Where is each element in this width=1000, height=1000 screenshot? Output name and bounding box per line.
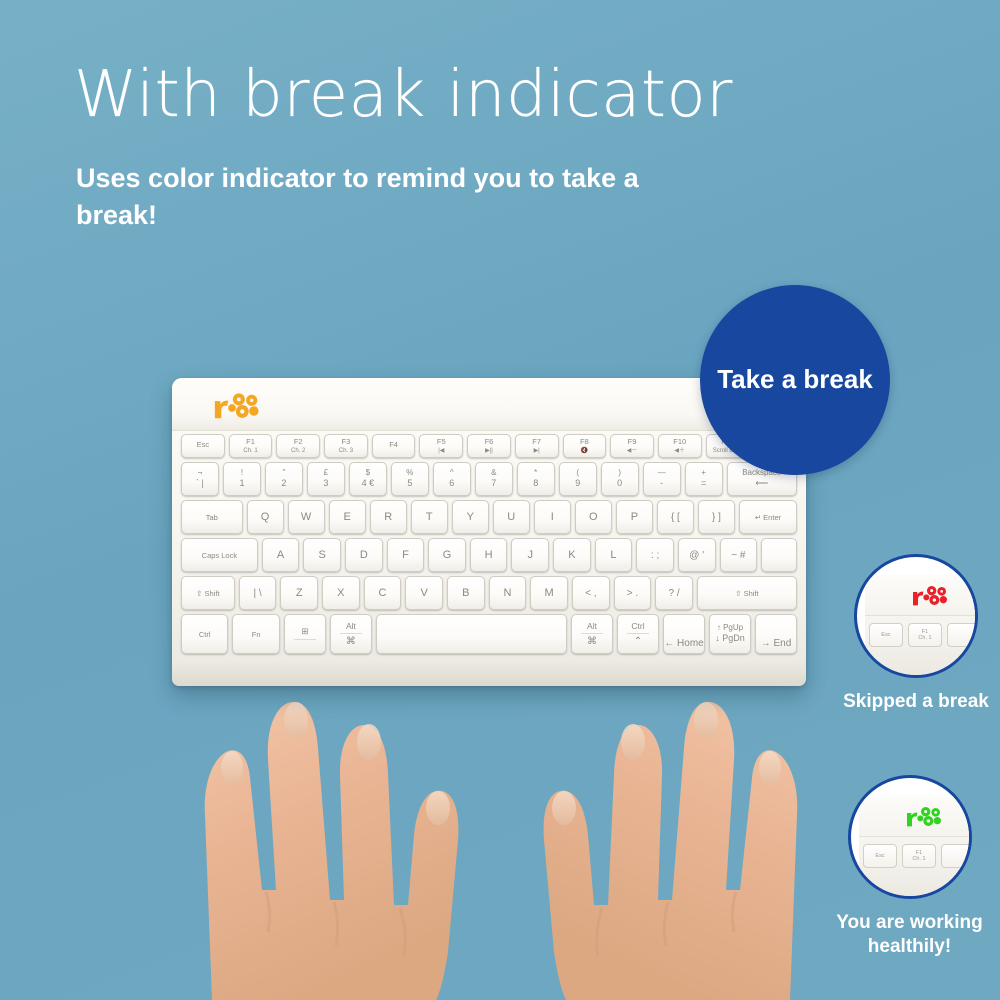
nail bbox=[426, 791, 450, 825]
key-v[interactable]: V bbox=[405, 576, 443, 610]
key-h[interactable]: H bbox=[470, 538, 508, 572]
nail bbox=[759, 751, 781, 785]
nail bbox=[621, 724, 645, 760]
key-p[interactable]: P bbox=[616, 500, 653, 534]
key-m[interactable]: M bbox=[530, 576, 568, 610]
key-j[interactable]: J bbox=[511, 538, 549, 572]
key-alt-right[interactable]: Alt⌘ bbox=[571, 614, 613, 654]
key-f5[interactable]: F5|◀ bbox=[419, 434, 463, 458]
mini-key-f2[interactable] bbox=[941, 844, 972, 868]
keyboard-row-bottom: Ctrl Fn ⊞ Alt⌘ Alt⌘ Ctrl⌃ ← Home ↑ PgUp↓… bbox=[181, 614, 797, 654]
key-n[interactable]: N bbox=[489, 576, 527, 610]
mini-key-f1[interactable]: F1Ch. 1 bbox=[908, 623, 942, 647]
key-c[interactable]: C bbox=[364, 576, 402, 610]
keyboard-row-qwerty: Tab Q W E R T Y U I O P { [ } ] ↵ Enter bbox=[181, 500, 797, 534]
key-5[interactable]: %5 bbox=[391, 462, 429, 496]
key-alt-left[interactable]: Alt⌘ bbox=[330, 614, 372, 654]
key-f6[interactable]: F6▶|| bbox=[467, 434, 511, 458]
key-f4[interactable]: F4 bbox=[372, 434, 416, 458]
keyboard-row-numbers: ¬` | !1 "2 £3 $4 € %5 ^6 &7 *8 (9 )0 —- … bbox=[181, 462, 797, 496]
rgo-logo-icon bbox=[905, 804, 945, 828]
mini-key-f2[interactable] bbox=[947, 623, 978, 647]
keyboard-row-function: Esc F1Ch. 1 F2Ch. 2 F3Ch. 3 F4 F5|◀ F6▶|… bbox=[181, 434, 797, 458]
mini-keyboard: Esc F1Ch. 1 bbox=[859, 796, 972, 899]
key-e[interactable]: E bbox=[329, 500, 366, 534]
key-t[interactable]: T bbox=[411, 500, 448, 534]
nail bbox=[221, 751, 243, 785]
nail bbox=[552, 791, 576, 825]
key-arrow-right-end[interactable]: → End bbox=[755, 614, 797, 654]
promo-image: With break indicator Uses color indicato… bbox=[0, 0, 1000, 1000]
key-shift-left[interactable]: ⇧ Shift bbox=[181, 576, 235, 610]
indicator-caption-healthily: You are working healthily! bbox=[827, 911, 992, 959]
keyboard-keys: Esc F1Ch. 1 F2Ch. 2 F3Ch. 3 F4 F5|◀ F6▶|… bbox=[181, 434, 797, 668]
key-f8[interactable]: F8🔇 bbox=[563, 434, 607, 458]
key-semicolon[interactable]: : ; bbox=[636, 538, 674, 572]
rgo-logo-icon bbox=[212, 390, 264, 420]
mini-keyboard-keys: Esc F1Ch. 1 bbox=[863, 844, 972, 868]
key-f1[interactable]: F1Ch. 1 bbox=[229, 434, 273, 458]
key-minus[interactable]: —- bbox=[643, 462, 681, 496]
key-w[interactable]: W bbox=[288, 500, 325, 534]
indicator-caption-skipped: Skipped a break bbox=[841, 690, 991, 714]
key-f9[interactable]: F9◀－ bbox=[610, 434, 654, 458]
keyboard-row-shift: ⇧ Shift | \ Z X C V B N M < , > . ? / ⇧ … bbox=[181, 576, 797, 610]
indicator-circle-red: Esc F1Ch. 1 bbox=[854, 554, 978, 678]
key-a[interactable]: A bbox=[262, 538, 300, 572]
key-7[interactable]: &7 bbox=[475, 462, 513, 496]
key-arrow-up-down[interactable]: ↑ PgUp↓ PgDn bbox=[709, 614, 751, 654]
key-windows[interactable]: ⊞ bbox=[284, 614, 326, 654]
nail bbox=[694, 702, 718, 738]
key-f7[interactable]: F7▶| bbox=[515, 434, 559, 458]
right-hand bbox=[544, 702, 798, 1000]
key-f2[interactable]: F2Ch. 2 bbox=[276, 434, 320, 458]
indicator-skipped-break: Esc F1Ch. 1 Skipped a break bbox=[841, 554, 991, 714]
indicator-working-healthily: Esc F1Ch. 1 You are working healthily! bbox=[835, 775, 985, 959]
key-tab[interactable]: Tab bbox=[181, 500, 243, 534]
mini-keyboard-top-bar bbox=[859, 796, 972, 837]
key-y[interactable]: Y bbox=[452, 500, 489, 534]
key-caps-lock[interactable]: Caps Lock bbox=[181, 538, 258, 572]
key-b[interactable]: B bbox=[447, 576, 485, 610]
mini-key-f1[interactable]: F1Ch. 1 bbox=[902, 844, 936, 868]
key-enter-tail[interactable] bbox=[761, 538, 797, 572]
left-hand bbox=[205, 702, 459, 1000]
key-apostrophe[interactable]: @ ' bbox=[678, 538, 716, 572]
key-backtick[interactable]: ¬` | bbox=[181, 462, 219, 496]
key-g[interactable]: G bbox=[428, 538, 466, 572]
keyboard-row-home: Caps Lock A S D F G H J K L : ; @ ' ~ # bbox=[181, 538, 797, 572]
indicator-circle-green: Esc F1Ch. 1 bbox=[848, 775, 972, 899]
page-title: With break indicator bbox=[74, 58, 733, 132]
key-k[interactable]: K bbox=[553, 538, 591, 572]
key-o[interactable]: O bbox=[575, 500, 612, 534]
key-9[interactable]: (9 bbox=[559, 462, 597, 496]
key-6[interactable]: ^6 bbox=[433, 462, 471, 496]
mini-keyboard-keys: Esc F1Ch. 1 bbox=[869, 623, 978, 647]
key-i[interactable]: I bbox=[534, 500, 571, 534]
key-equals[interactable]: += bbox=[685, 462, 723, 496]
key-x[interactable]: X bbox=[322, 576, 360, 610]
key-fn[interactable]: Fn bbox=[232, 614, 279, 654]
key-comma[interactable]: < , bbox=[572, 576, 610, 610]
mini-key-esc[interactable]: Esc bbox=[869, 623, 903, 647]
key-esc[interactable]: Esc bbox=[181, 434, 225, 458]
take-a-break-badge: Take a break bbox=[700, 285, 890, 475]
key-ctrl-left[interactable]: Ctrl bbox=[181, 614, 228, 654]
key-enter[interactable]: ↵ Enter bbox=[739, 500, 797, 534]
key-period[interactable]: > . bbox=[614, 576, 652, 610]
key-f10[interactable]: F10◀＋ bbox=[658, 434, 702, 458]
key-f3[interactable]: F3Ch. 3 bbox=[324, 434, 368, 458]
key-space[interactable] bbox=[376, 614, 567, 654]
key-0[interactable]: )0 bbox=[601, 462, 639, 496]
key-arrow-left-home[interactable]: ← Home bbox=[663, 614, 705, 654]
key-shift-right[interactable]: ⇧ Shift bbox=[697, 576, 797, 610]
mini-keyboard: Esc F1Ch. 1 bbox=[865, 575, 978, 678]
key-q[interactable]: Q bbox=[247, 500, 284, 534]
key-4[interactable]: $4 € bbox=[349, 462, 387, 496]
mini-keyboard-top-bar bbox=[865, 575, 978, 616]
key-s[interactable]: S bbox=[303, 538, 341, 572]
rgo-logo-icon bbox=[911, 583, 951, 607]
key-2[interactable]: "2 bbox=[265, 462, 303, 496]
key-f[interactable]: F bbox=[387, 538, 425, 572]
key-1[interactable]: !1 bbox=[223, 462, 261, 496]
mini-key-esc[interactable]: Esc bbox=[863, 844, 897, 868]
key-hash[interactable]: ~ # bbox=[720, 538, 758, 572]
key-8[interactable]: *8 bbox=[517, 462, 555, 496]
take-a-break-label: Take a break bbox=[717, 363, 873, 397]
key-z[interactable]: Z bbox=[280, 576, 318, 610]
key-ctrl-right[interactable]: Ctrl⌃ bbox=[617, 614, 659, 654]
key-u[interactable]: U bbox=[493, 500, 530, 534]
page-subtitle: Uses color indicator to remind you to ta… bbox=[76, 160, 696, 235]
key-bracket-right[interactable]: } ] bbox=[698, 500, 735, 534]
key-3[interactable]: £3 bbox=[307, 462, 345, 496]
key-backslash[interactable]: | \ bbox=[239, 576, 277, 610]
key-d[interactable]: D bbox=[345, 538, 383, 572]
key-l[interactable]: L bbox=[595, 538, 633, 572]
key-slash[interactable]: ? / bbox=[655, 576, 693, 610]
key-bracket-left[interactable]: { [ bbox=[657, 500, 694, 534]
nail bbox=[357, 724, 381, 760]
nail bbox=[284, 702, 308, 738]
key-r[interactable]: R bbox=[370, 500, 407, 534]
